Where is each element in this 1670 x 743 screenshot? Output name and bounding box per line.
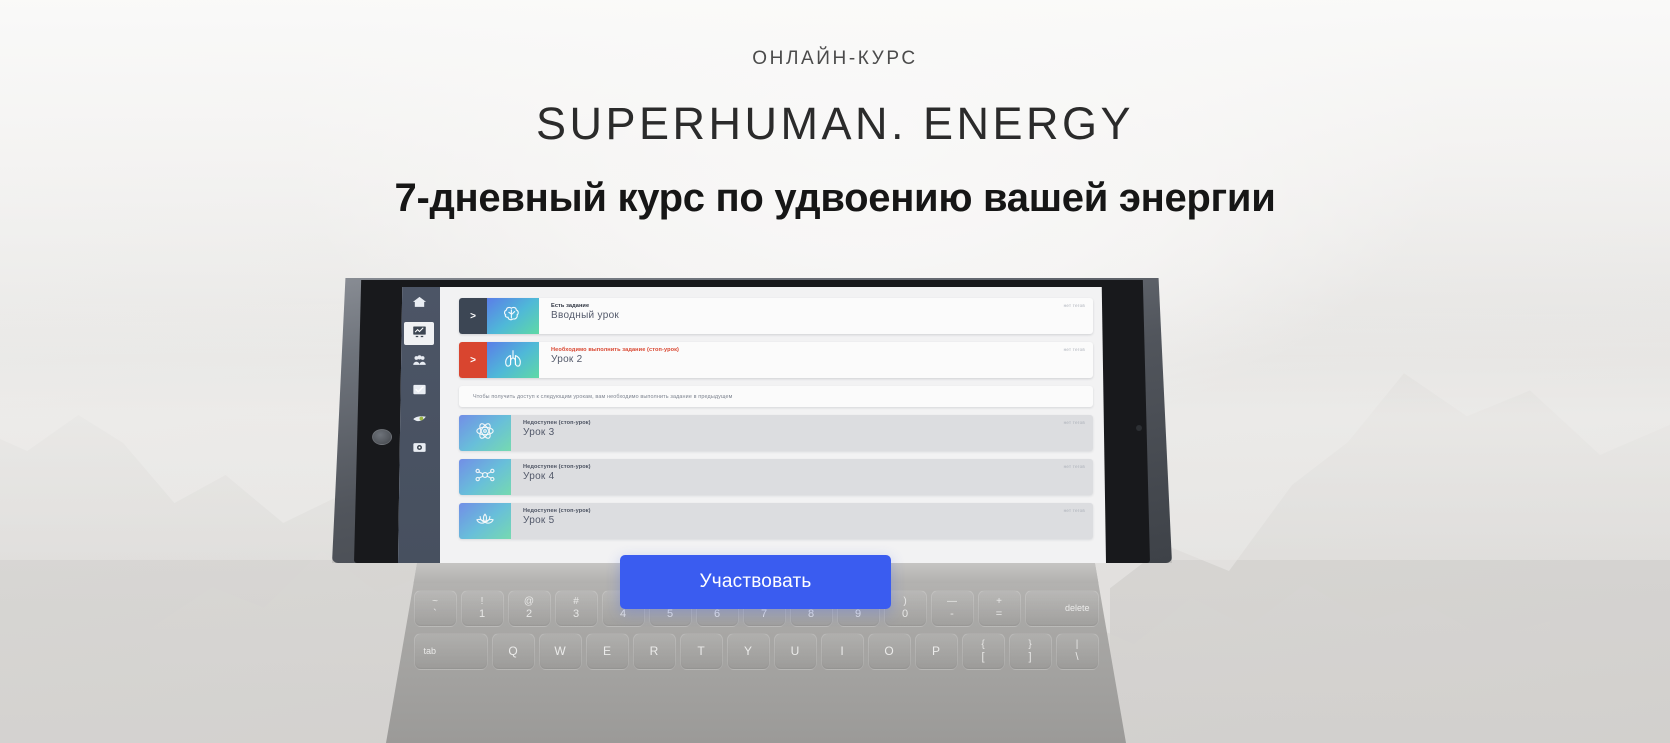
key-t[interactable]: T <box>680 633 723 670</box>
lesson-meta: Недоступен (стоп-урок)Урок 5 <box>511 503 1064 539</box>
lesson-thumbnail <box>487 342 539 378</box>
leaf-icon <box>410 411 429 431</box>
lesson-status: Недоступен (стоп-урок) <box>523 420 1064 426</box>
key-=[interactable]: += <box>978 590 1021 627</box>
key-2[interactable]: @2 <box>508 590 551 627</box>
key-label: I <box>840 645 843 659</box>
lesson-tags: нет тегов <box>1064 347 1085 352</box>
key-bottom-label: 3 <box>573 608 579 621</box>
key-i[interactable]: I <box>821 633 864 670</box>
locked-notice: Чтобы получить доступ к следующим урокам… <box>459 386 1093 407</box>
lesson-tags: нет тегов <box>1064 464 1085 469</box>
key-label: tab <box>424 646 437 656</box>
lesson-meta: Есть заданиеВводный урок <box>539 298 1064 334</box>
key-y[interactable]: Y <box>727 633 770 670</box>
key-top-label: { <box>981 639 984 651</box>
key-top-label: ) <box>903 596 906 608</box>
sidebar-item-people[interactable] <box>404 351 434 374</box>
lesson-expand-arrow-icon[interactable]: > <box>459 298 487 334</box>
key-label: O <box>884 645 893 659</box>
sidebar-item-badge[interactable] <box>404 438 434 461</box>
sidebar-item-leaf[interactable] <box>404 409 434 432</box>
tablet-device: >Есть заданиеВводный урокнет тегов>Необх… <box>332 263 1172 563</box>
key-bottom-label: 6 <box>714 608 720 621</box>
lesson-row[interactable]: >Есть заданиеВводный урокнет тегов <box>459 298 1093 334</box>
key-top-label: | <box>1076 639 1079 651</box>
participate-button[interactable]: Участвовать <box>620 555 891 609</box>
brain-icon <box>500 304 526 329</box>
key-3[interactable]: #3 <box>555 590 598 627</box>
key-top-label: ~ <box>432 596 438 608</box>
lesson-meta: Необходимо выполнить задание (стоп-урок)… <box>539 342 1064 378</box>
lesson-title: Урок 2 <box>551 354 1064 365</box>
home-icon <box>410 295 429 315</box>
lesson-status: Недоступен (стоп-урок) <box>523 508 1064 514</box>
lesson-status: Есть задание <box>551 303 1064 309</box>
hero-brand: SUPERHUMAN. ENERGY <box>0 98 1670 150</box>
key-bottom-label: 8 <box>808 608 814 621</box>
lotus-icon <box>472 509 498 534</box>
keyboard-row-qwerty: tabQWERTYUIOP{[}]|\ <box>386 633 1126 670</box>
key-top-label: ! <box>481 596 484 608</box>
key-label: R <box>650 645 659 659</box>
key-label: T <box>697 645 704 659</box>
sidebar-item-presentation[interactable] <box>404 322 434 345</box>
key-bottom-label: = <box>996 608 1002 621</box>
key-u[interactable]: U <box>774 633 817 670</box>
key-bottom-label: [ <box>981 651 984 664</box>
lesson-thumbnail <box>459 503 511 539</box>
key-tab[interactable]: tab <box>414 633 488 670</box>
key-w[interactable]: W <box>539 633 582 670</box>
key-bottom-label: ` <box>433 608 437 621</box>
tablet-home-button[interactable] <box>372 429 392 445</box>
key-\[interactable]: |\ <box>1056 633 1099 670</box>
hero-kicker: ОНЛАЙН-КУРС <box>0 48 1670 70</box>
key-top-label: + <box>996 596 1002 608</box>
key-label: delete <box>1065 603 1090 613</box>
molecule-icon <box>472 465 498 490</box>
key-r[interactable]: R <box>633 633 676 670</box>
sidebar-item-checkbox[interactable] <box>404 380 434 403</box>
key-bottom-label: 4 <box>620 608 626 621</box>
key-[[interactable]: {[ <box>962 633 1005 670</box>
badge-icon <box>410 440 429 460</box>
key-][interactable]: }] <box>1009 633 1052 670</box>
key-top-label: # <box>573 596 579 608</box>
lesson-meta: Недоступен (стоп-урок)Урок 3 <box>511 415 1064 451</box>
key-bottom-label: 5 <box>667 608 673 621</box>
key-label: Q <box>508 645 517 659</box>
key-top-label: @ <box>524 596 534 608</box>
key-q[interactable]: Q <box>492 633 535 670</box>
lesson-expand-arrow-icon[interactable]: > <box>459 342 487 378</box>
hero-text-block: ОНЛАЙН-КУРС SUPERHUMAN. ENERGY 7-дневный… <box>0 0 1670 221</box>
key-delete[interactable]: delete <box>1025 590 1099 627</box>
lesson-title: Урок 4 <box>523 471 1064 482</box>
key-bottom-label: 1 <box>479 608 485 621</box>
key-bottom-label: \ <box>1075 651 1078 664</box>
lesson-thumbnail <box>459 459 511 495</box>
key-e[interactable]: E <box>586 633 629 670</box>
key-label: W <box>554 645 565 659</box>
key-label: U <box>791 645 800 659</box>
key-bottom-label: 0 <box>902 608 908 621</box>
key-bottom-label: 2 <box>526 608 532 621</box>
lesson-status: Недоступен (стоп-урок) <box>523 464 1064 470</box>
key-bottom-label: ] <box>1028 651 1031 664</box>
key-label: P <box>932 645 940 659</box>
key-bottom-label: 7 <box>761 608 767 621</box>
lesson-row[interactable]: >Необходимо выполнить задание (стоп-урок… <box>459 342 1093 378</box>
key-1[interactable]: !1 <box>461 590 504 627</box>
lesson-meta: Недоступен (стоп-урок)Урок 4 <box>511 459 1064 495</box>
lesson-row[interactable]: Недоступен (стоп-урок)Урок 4нет тегов <box>459 459 1093 495</box>
checkbox-icon <box>410 382 429 402</box>
sidebar-item-home[interactable] <box>404 293 434 316</box>
lesson-row[interactable]: Недоступен (стоп-урок)Урок 3нет тегов <box>459 415 1093 451</box>
app-sidebar <box>398 287 440 563</box>
landing-hero: ОНЛАЙН-КУРС SUPERHUMAN. ENERGY 7-дневный… <box>0 0 1670 743</box>
key-top-label: — <box>947 596 957 608</box>
key-label: Y <box>744 645 752 659</box>
key-label: E <box>603 645 611 659</box>
lesson-tags: нет тегов <box>1064 303 1085 308</box>
lesson-tags: нет тегов <box>1064 420 1085 425</box>
people-icon <box>410 353 429 373</box>
lesson-list: >Есть заданиеВводный урокнет тегов>Необх… <box>440 287 1106 563</box>
atom-icon <box>472 421 498 446</box>
lesson-title: Урок 5 <box>523 515 1064 526</box>
key--[interactable]: —- <box>931 590 974 627</box>
key-bottom-label: - <box>950 608 954 621</box>
tablet-camera-icon <box>1136 425 1142 431</box>
lungs-icon <box>500 348 526 373</box>
key-o[interactable]: O <box>868 633 911 670</box>
hero-tagline: 7-дневный курс по удвоению вашей энергии <box>0 176 1670 221</box>
key-p[interactable]: P <box>915 633 958 670</box>
key-top-label: } <box>1028 639 1031 651</box>
lesson-tags: нет тегов <box>1064 508 1085 513</box>
lesson-thumbnail <box>459 415 511 451</box>
tablet-screen: >Есть заданиеВводный урокнет тегов>Необх… <box>398 287 1106 563</box>
key-`[interactable]: ~` <box>414 590 457 627</box>
lesson-title: Вводный урок <box>551 310 1064 321</box>
lesson-status: Необходимо выполнить задание (стоп-урок) <box>551 347 1064 353</box>
presentation-icon <box>410 324 429 344</box>
lesson-title: Урок 3 <box>523 427 1064 438</box>
lesson-row[interactable]: Недоступен (стоп-урок)Урок 5нет тегов <box>459 503 1093 539</box>
lesson-thumbnail <box>487 298 539 334</box>
key-bottom-label: 9 <box>855 608 861 621</box>
